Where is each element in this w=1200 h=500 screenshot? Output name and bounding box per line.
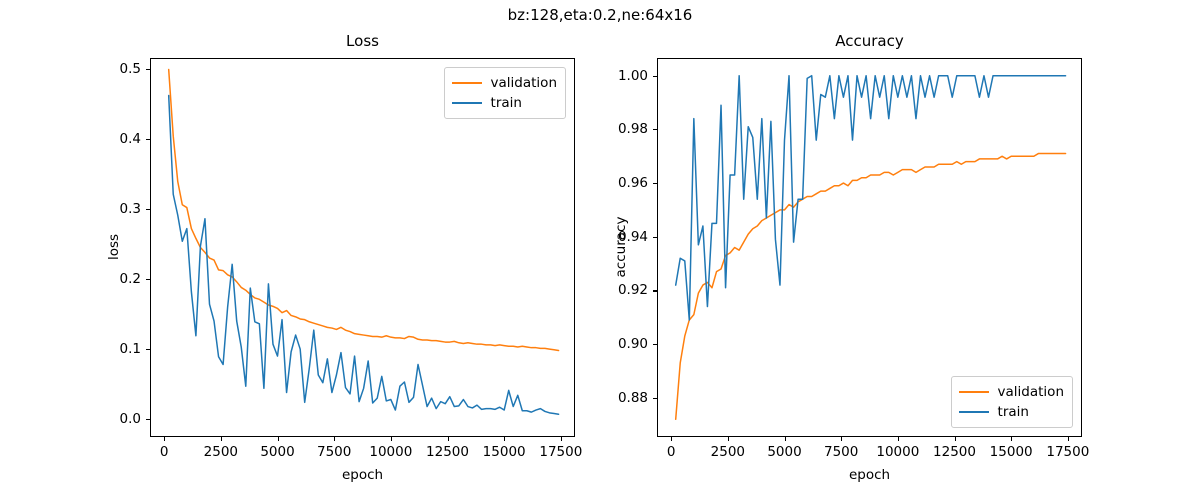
x-tickmark [1011,437,1012,441]
x-tick-label: 0 [667,444,676,460]
y-tick-label: 0.92 [598,282,648,298]
y-tickmark [653,76,657,77]
x-tick-label: 17500 [539,444,582,460]
legend-entry-validation: validation [959,382,1064,402]
axes-accuracy-legend[interactable]: validation train [951,376,1073,428]
y-tick-label: 0.98 [598,121,648,137]
y-tick-label: 0.94 [598,229,648,245]
axes-accuracy-title: Accuracy [657,32,1082,50]
x-tick-label: 5000 [260,444,294,460]
y-tick-label: 0.4 [91,131,141,147]
y-tick-label: 1.00 [598,68,648,84]
y-tickmark [653,398,657,399]
y-tick-label: 0.5 [91,61,141,77]
y-tickmark [653,129,657,130]
legend-label-validation: validation [998,382,1064,402]
x-tickmark [728,437,729,441]
x-tickmark [278,437,279,441]
x-tick-label: 17500 [1046,444,1089,460]
x-tickmark [785,437,786,441]
y-tickmark [146,279,150,280]
axes-accuracy-xlabel: epoch [657,467,1082,483]
y-tickmark [653,237,657,238]
y-tick-label: 0.88 [598,390,648,406]
x-tick-label: 0 [160,444,169,460]
figure-suptitle: bz:128,eta:0.2,ne:64x16 [0,6,1200,24]
y-tickmark [653,290,657,291]
legend-line-train-icon [452,102,482,104]
axes-loss-legend[interactable]: validation train [444,67,566,119]
y-tickmark [653,183,657,184]
x-tickmark [671,437,672,441]
legend-line-validation-icon [959,391,989,393]
y-tick-label: 0.96 [598,175,648,191]
y-tick-label: 0.2 [91,271,141,287]
x-tickmark [841,437,842,441]
line-train [676,76,1066,320]
axes-loss: Loss loss epoch validation train 0.00.10… [150,58,575,437]
x-tick-label: 7500 [824,444,858,460]
legend-entry-train: train [452,93,557,113]
y-tick-label: 0.3 [91,201,141,217]
y-tickmark [146,349,150,350]
x-tick-label: 2500 [711,444,745,460]
x-tickmark [164,437,165,441]
x-tickmark [561,437,562,441]
x-tick-label: 7500 [317,444,351,460]
x-tickmark [1068,437,1069,441]
x-tick-label: 2500 [204,444,238,460]
x-tick-label: 15000 [483,444,526,460]
legend-label-train: train [998,402,1029,422]
y-tick-label: 0.0 [91,411,141,427]
x-tickmark [334,437,335,441]
x-tick-label: 12500 [426,444,469,460]
legend-line-train-icon [959,411,989,413]
axes-loss-title: Loss [150,32,575,50]
y-tickmark [146,139,150,140]
x-tickmark [504,437,505,441]
y-tickmark [653,344,657,345]
x-tickmark [898,437,899,441]
y-tick-label: 0.90 [598,336,648,352]
legend-entry-validation: validation [452,73,557,93]
legend-label-validation: validation [491,73,557,93]
line-train [169,95,559,414]
x-tick-label: 15000 [990,444,1033,460]
x-tick-label: 10000 [876,444,919,460]
axes-accuracy: Accuracy accuracy epoch validation train… [657,58,1082,437]
y-tickmark [146,419,150,420]
y-tick-label: 0.1 [91,341,141,357]
x-tick-label: 10000 [369,444,412,460]
y-tickmark [146,69,150,70]
legend-entry-train: train [959,402,1064,422]
x-tickmark [955,437,956,441]
y-tickmark [146,209,150,210]
x-tick-label: 12500 [933,444,976,460]
legend-label-train: train [491,93,522,113]
x-tickmark [391,437,392,441]
x-tickmark [448,437,449,441]
x-tickmark [221,437,222,441]
x-tick-label: 5000 [767,444,801,460]
matplotlib-figure: bz:128,eta:0.2,ne:64x16 Loss loss epoch … [0,0,1200,500]
axes-loss-xlabel: epoch [150,467,575,483]
legend-line-validation-icon [452,82,482,84]
